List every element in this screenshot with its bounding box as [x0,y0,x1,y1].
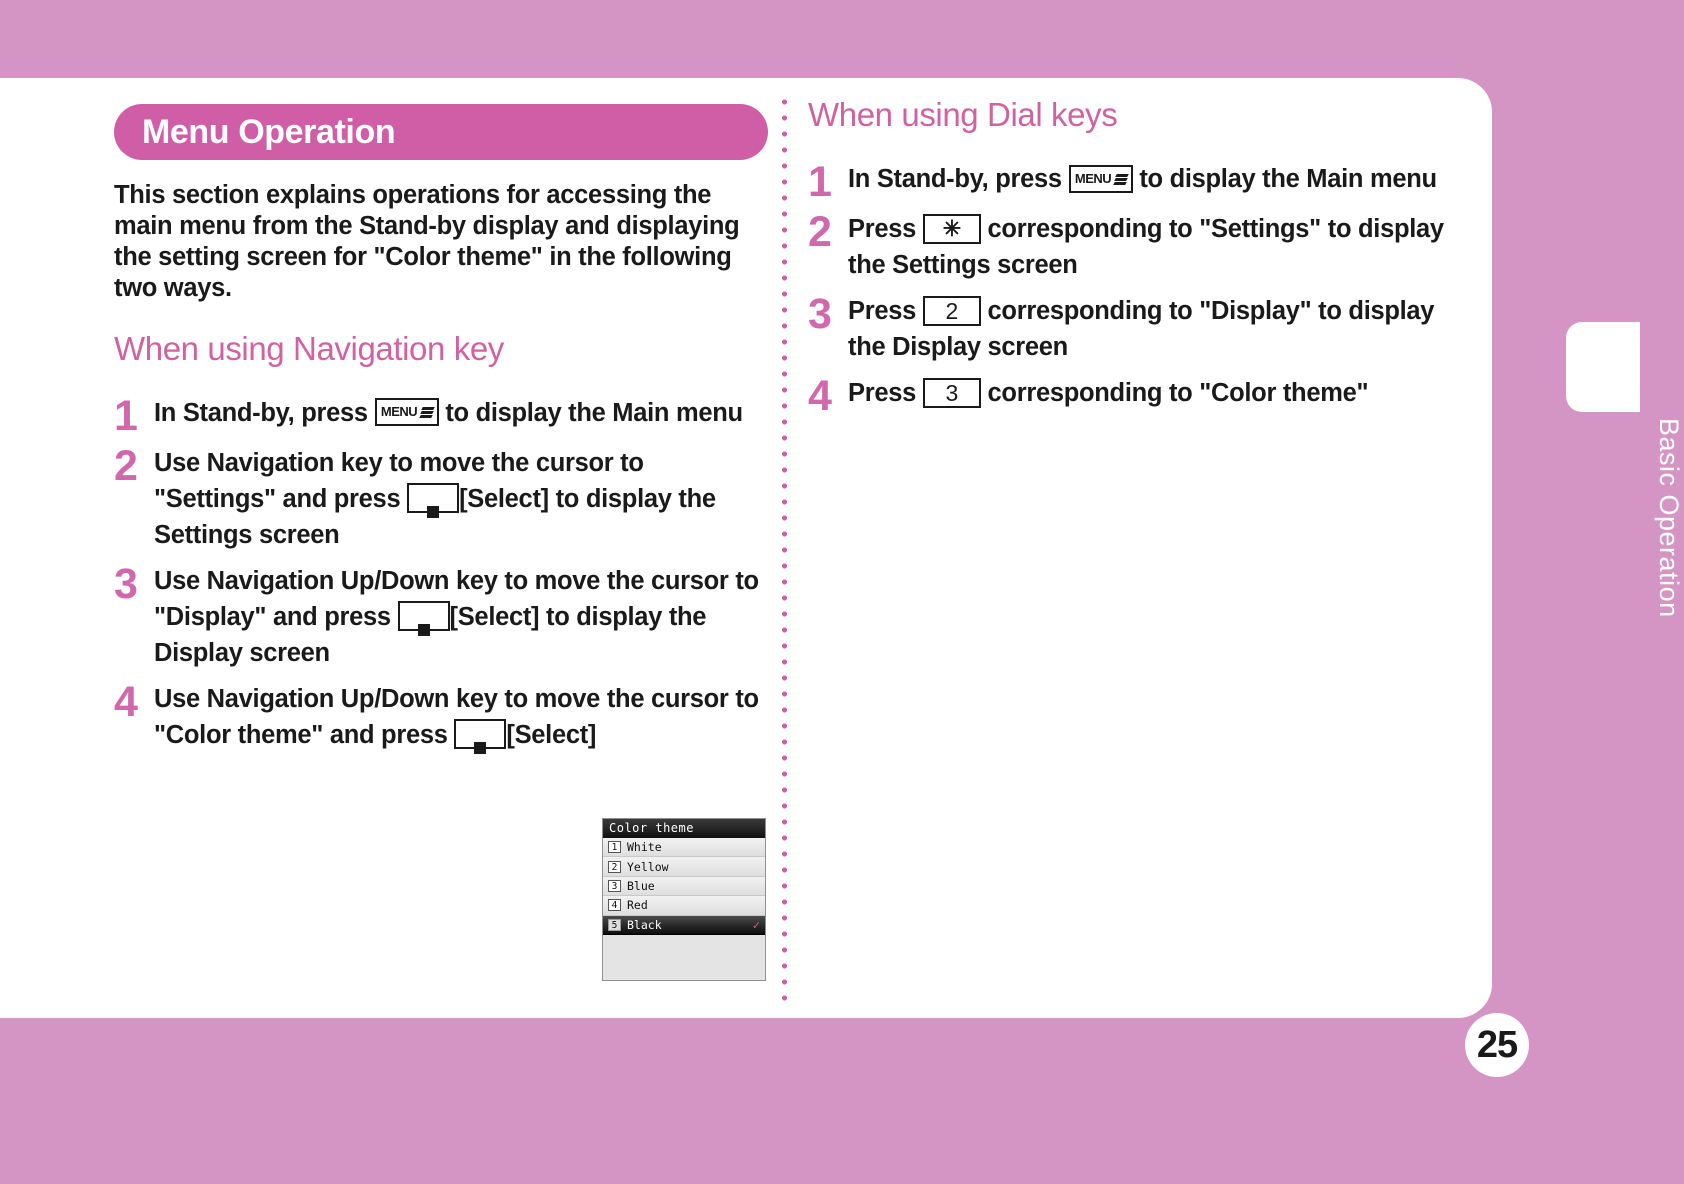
dial-key-icon-3: 3 [923,378,981,408]
step-text: In Stand-by, press MENU to display the M… [154,395,770,431]
side-tab: Basic Operation [1566,0,1684,1184]
side-tab-notch [1566,322,1640,412]
intro-paragraph: This section explains operations for acc… [114,180,754,304]
phone-screen-row-index: 1 [608,841,621,853]
phone-screen-list: 1White2Yellow3Blue4Red5Black✓ [603,838,765,935]
right-column: When using Dial keys 1In Stand-by, press… [808,96,1468,425]
step-text: Press 2 corresponding to "Display" to di… [848,293,1468,365]
menu-key-icon: MENU [375,398,439,426]
step-text: Use Navigation key to move the cursor to… [154,445,770,553]
step-item: 3Press 2 corresponding to "Display" to d… [808,293,1468,365]
step-number: 1 [808,161,848,201]
phone-screen-row[interactable]: 1White [603,838,765,857]
phone-screen-row-label: Yellow [627,860,669,874]
step-text: Use Navigation Up/Down key to move the c… [154,563,770,671]
phone-screen-row-index: 4 [608,899,621,911]
phone-screen-row-label: Red [627,898,648,912]
step-text: Use Navigation Up/Down key to move the c… [154,681,770,753]
step-item: 2Use Navigation key to move the cursor t… [114,445,770,553]
select-key-icon [454,719,506,749]
section-title: Menu Operation [142,113,395,152]
page-number: 25 [1465,1013,1529,1077]
column-divider [782,94,787,1006]
subheading-dial-keys: When using Dial keys [808,96,1468,134]
select-key-icon [407,483,459,513]
star-key-icon: ✳ [923,214,981,244]
dial-key-icon-2: 2 [923,296,981,326]
step-number: 3 [114,563,154,603]
section-banner: Menu Operation [114,104,768,160]
step-number: 1 [114,395,154,435]
phone-screen-row[interactable]: 2Yellow [603,857,765,876]
phone-screen-row-label: Black [627,918,662,932]
phone-screen-row-index: 5 [608,919,621,931]
phone-screen-mock: Color theme 1White2Yellow3Blue4Red5Black… [602,818,766,981]
subheading-navigation-key: When using Navigation key [114,330,770,368]
step-number: 4 [114,681,154,721]
menu-key-icon: MENU [1069,165,1133,193]
phone-screen-row-index: 2 [608,861,621,873]
step-item: 3Use Navigation Up/Down key to move the … [114,563,770,671]
phone-screen-row-index: 3 [608,880,621,892]
phone-screen-row-label: Blue [627,879,655,893]
step-item: 1In Stand-by, press MENU to display the … [808,161,1468,201]
phone-screen-row[interactable]: 4Red [603,896,765,915]
step-item: 4Press 3 corresponding to "Color theme" [808,375,1468,415]
phone-screen-title: Color theme [603,819,765,838]
phone-screen-row[interactable]: 3Blue [603,877,765,896]
check-icon: ✓ [753,919,760,931]
step-number: 4 [808,375,848,415]
step-text: Press 3 corresponding to "Color theme" [848,375,1468,411]
phone-screen-row-label: White [627,840,662,854]
step-item: 1In Stand-by, press MENU to display the … [114,395,770,435]
side-tab-label: Basic Operation [1566,418,1684,618]
step-number: 2 [114,445,154,485]
step-number: 2 [808,211,848,251]
steps-navigation-key: 1In Stand-by, press MENU to display the … [114,395,770,753]
steps-dial-keys: 1In Stand-by, press MENU to display the … [808,161,1468,415]
step-item: 4Use Navigation Up/Down key to move the … [114,681,770,753]
step-number: 3 [808,293,848,333]
left-column: Menu Operation This section explains ope… [114,104,770,763]
step-text: Press ✳ corresponding to "Settings" to d… [848,211,1468,283]
step-item: 2Press ✳ corresponding to "Settings" to … [808,211,1468,283]
step-text: In Stand-by, press MENU to display the M… [848,161,1468,197]
phone-screen-row[interactable]: 5Black✓ [603,916,765,935]
phone-screen-empty-area [603,935,765,981]
select-key-icon [398,601,450,631]
